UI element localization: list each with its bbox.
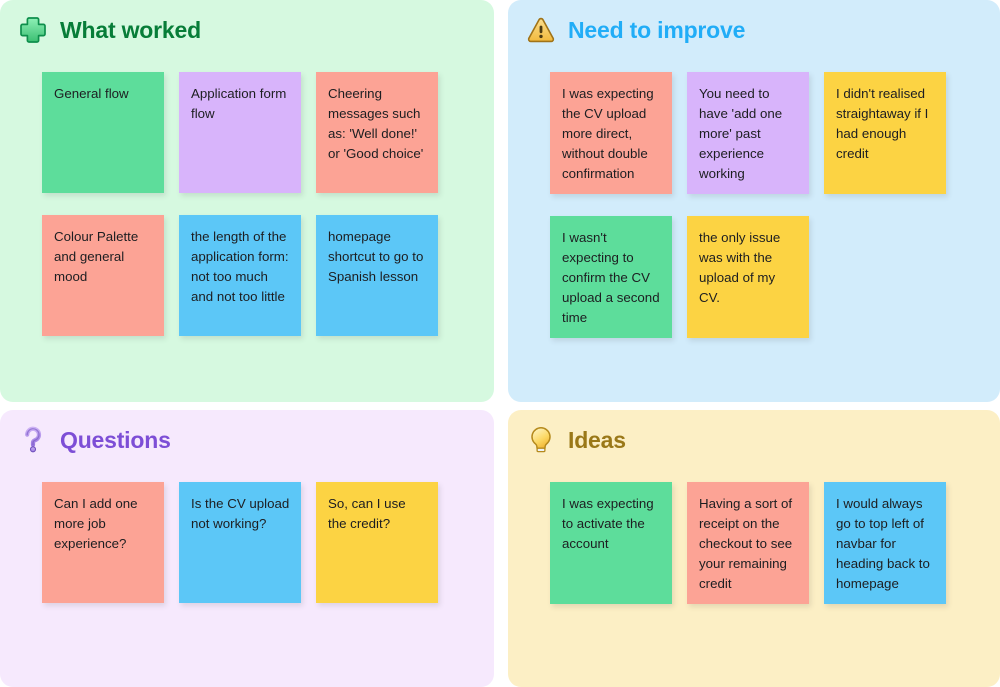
sticky-note[interactable]: Application form flow bbox=[179, 72, 301, 193]
panel-header-ideas: Ideas bbox=[508, 410, 1000, 454]
notes-row: Can I add one more job experience? Is th… bbox=[42, 482, 494, 603]
sticky-note[interactable]: So, can I use the credit? bbox=[316, 482, 438, 603]
sticky-note[interactable]: Cheering messages such as: 'Well done!' … bbox=[316, 72, 438, 193]
sticky-note[interactable]: Is the CV upload not working? bbox=[179, 482, 301, 603]
sticky-note[interactable]: I was expecting to activate the account bbox=[550, 482, 672, 604]
panel-need-to-improve: Need to improve I was expecting the CV u… bbox=[508, 0, 1000, 402]
panel-what-worked: What worked General flow Application for… bbox=[0, 0, 494, 402]
notes-row: I was expecting to activate the account … bbox=[550, 482, 1000, 604]
sticky-note[interactable]: the only issue was with the upload of my… bbox=[687, 216, 809, 338]
sticky-note[interactable]: Colour Palette and general mood bbox=[42, 215, 164, 336]
warning-triangle-icon bbox=[526, 15, 556, 45]
panel-header-need-to-improve: Need to improve bbox=[508, 0, 1000, 44]
sticky-note[interactable]: I didn't realised straightaway if I had … bbox=[824, 72, 946, 194]
sticky-note[interactable]: homepage shortcut to go to Spanish lesso… bbox=[316, 215, 438, 336]
panel-header-questions: Questions bbox=[0, 410, 494, 454]
notes-area-ideas: I was expecting to activate the account … bbox=[508, 454, 1000, 604]
retrospective-board: What worked General flow Application for… bbox=[0, 0, 1000, 687]
sticky-note[interactable]: Having a sort of receipt on the checkout… bbox=[687, 482, 809, 604]
sticky-note[interactable]: General flow bbox=[42, 72, 164, 193]
panel-title-what-worked: What worked bbox=[60, 19, 201, 42]
sticky-note[interactable]: I would always go to top left of navbar … bbox=[824, 482, 946, 604]
panel-title-questions: Questions bbox=[60, 429, 171, 452]
panel-title-ideas: Ideas bbox=[568, 429, 626, 452]
panel-title-need-to-improve: Need to improve bbox=[568, 19, 745, 42]
notes-area-questions: Can I add one more job experience? Is th… bbox=[0, 454, 494, 603]
notes-area-what-worked: General flow Application form flow Cheer… bbox=[0, 44, 494, 336]
notes-row: I was expecting the CV upload more direc… bbox=[550, 72, 1000, 194]
sticky-note[interactable]: I wasn't expecting to confirm the CV upl… bbox=[550, 216, 672, 338]
notes-row: General flow Application form flow Cheer… bbox=[42, 72, 494, 193]
green-cross-icon bbox=[18, 15, 48, 45]
lightbulb-icon bbox=[526, 425, 556, 455]
panel-questions: Questions Can I add one more job experie… bbox=[0, 410, 494, 687]
sticky-note[interactable]: the length of the application form: not … bbox=[179, 215, 301, 336]
sticky-note[interactable]: Can I add one more job experience? bbox=[42, 482, 164, 603]
notes-area-need-to-improve: I was expecting the CV upload more direc… bbox=[508, 44, 1000, 338]
sticky-note[interactable]: You need to have 'add one more' past exp… bbox=[687, 72, 809, 194]
panel-ideas: Ideas I was expecting to activate the ac… bbox=[508, 410, 1000, 687]
question-mark-icon bbox=[18, 425, 48, 455]
notes-row: Colour Palette and general mood the leng… bbox=[42, 215, 494, 336]
notes-row: I wasn't expecting to confirm the CV upl… bbox=[550, 216, 1000, 338]
panel-header-what-worked: What worked bbox=[0, 0, 494, 44]
sticky-note[interactable]: I was expecting the CV upload more direc… bbox=[550, 72, 672, 194]
